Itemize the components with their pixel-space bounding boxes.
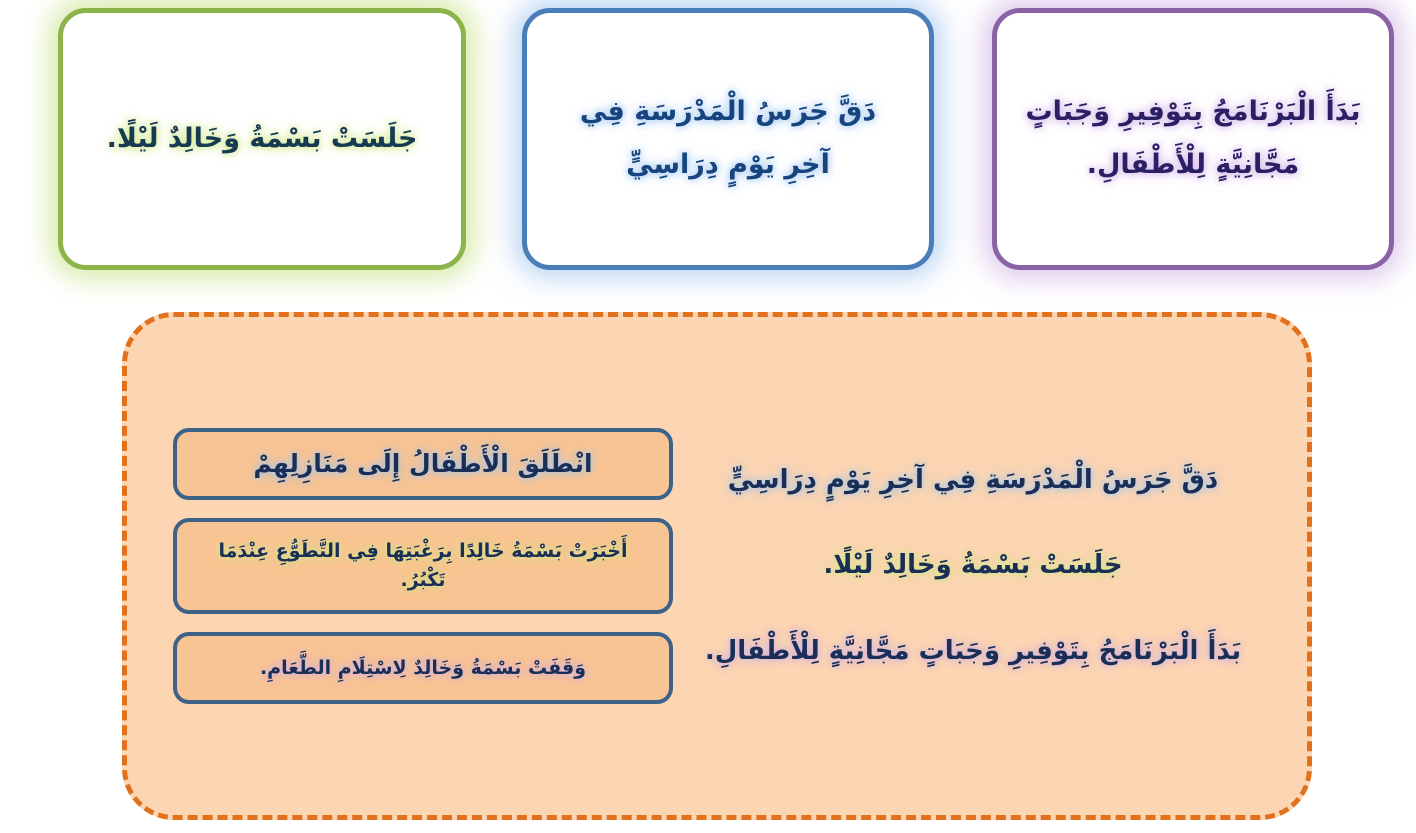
story-card-green: جَلَسَتْ بَسْمَةُ وَخَالِدٌ لَيْلًا. — [58, 8, 466, 270]
outcome-box-1-text: انْطَلَقَ الْأَطْفَالُ إِلَى مَنَازِلِهِ… — [195, 448, 651, 481]
story-card-blue: دَقَّ جَرَسُ الْمَدْرَسَةِ فِي آخِرِ يَو… — [522, 8, 934, 270]
story-card-purple-text: بَدَأَ الْبَرْنَامَجُ بِتَوْفِيرِ وَجَبَ… — [1023, 86, 1363, 191]
events-column: دَقَّ جَرَسُ الْمَدْرَسَةِ فِي آخِرِ يَو… — [673, 460, 1281, 673]
outcome-box-3: وَقَفَتْ بَسْمَةُ وَخَالِدٌ لِاسْتِلَامِ… — [173, 632, 673, 704]
outcome-box-2: أَخْبَرَتْ بَسْمَةُ خَالِدًا بِرَغْبَتِه… — [173, 518, 673, 614]
outcome-box-3-text: وَقَفَتْ بَسْمَةُ وَخَالِدٌ لِاسْتِلَامِ… — [195, 655, 651, 682]
story-card-purple: بَدَأَ الْبَرْنَامَجُ بِتَوْفِيرِ وَجَبَ… — [992, 8, 1394, 270]
story-card-green-text: جَلَسَتْ بَسْمَةُ وَخَالِدٌ لَيْلًا. — [89, 113, 435, 166]
event-line-3: بَدَأَ الْبَرْنَامَجُ بِتَوْفِيرِ وَجَبَ… — [673, 631, 1273, 673]
outcomes-column: انْطَلَقَ الْأَطْفَالُ إِلَى مَنَازِلِهِ… — [173, 428, 673, 704]
summary-panel: انْطَلَقَ الْأَطْفَالُ إِلَى مَنَازِلِهِ… — [122, 312, 1312, 820]
story-card-blue-text: دَقَّ جَرَسُ الْمَدْرَسَةِ فِي آخِرِ يَو… — [553, 86, 903, 191]
outcome-box-1: انْطَلَقَ الْأَطْفَالُ إِلَى مَنَازِلِهِ… — [173, 428, 673, 500]
event-line-1: دَقَّ جَرَسُ الْمَدْرَسَةِ فِي آخِرِ يَو… — [673, 460, 1273, 502]
event-line-2: جَلَسَتْ بَسْمَةُ وَخَالِدٌ لَيْلًا. — [673, 545, 1273, 587]
outcome-box-2-text: أَخْبَرَتْ بَسْمَةُ خَالِدًا بِرَغْبَتِه… — [195, 537, 651, 596]
